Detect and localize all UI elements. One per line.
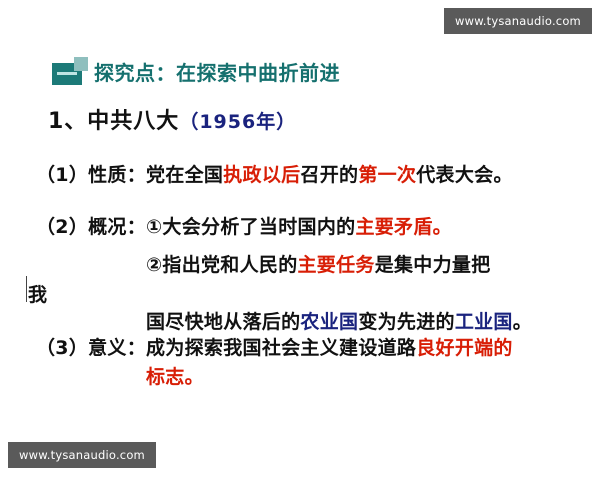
body-line-6: 标志。 <box>146 362 204 389</box>
line5-emphasis-1: 良好开端的 <box>416 337 513 359</box>
watermark-bottom-text: www.tysanaudio.com <box>19 448 145 462</box>
line3-emphasis-1: 主要任务 <box>298 254 375 276</box>
headline-year: （1956年） <box>179 111 296 133</box>
line2-seg1: 大会分析了当时国内的 <box>162 216 355 238</box>
teal-square-bullet-icon <box>52 57 92 85</box>
line2-emphasis-1: 主要矛盾。 <box>355 216 452 238</box>
line6-emphasis-1: 标志。 <box>146 366 204 388</box>
body-line-2: （2）概况：①大会分析了当时国内的主要矛盾。 <box>36 212 452 239</box>
line1-seg1: 党在全国 <box>146 164 223 186</box>
line5-label: （3）意义： <box>36 337 146 359</box>
line3-seg3: 是集中力量把 <box>375 254 491 276</box>
line4-emphasis-1: 农业国 <box>300 311 358 333</box>
line3-seg1: 指出党和人民的 <box>162 254 297 276</box>
line3-marker: ② <box>146 254 162 276</box>
body-line-1: （1）性质：党在全国执政以后召开的第一次代表大会。 <box>36 160 513 187</box>
body-line-5: （3）意义：成为探索我国社会主义建设道路良好开端的 <box>36 333 513 360</box>
line1-emphasis-2: 第一次 <box>358 164 416 186</box>
line1-label: （1）性质： <box>36 164 146 186</box>
watermark-top-text: www.tysanaudio.com <box>455 14 581 28</box>
line1-seg3: 召开的 <box>300 164 358 186</box>
line4-seg5: 。 <box>513 311 532 333</box>
section-title-text: 探究点：在探索中曲折前进 <box>94 57 340 86</box>
line1-emphasis-1: 执政以后 <box>223 164 300 186</box>
line4-emphasis-2: 工业国 <box>455 311 513 333</box>
body-line-4: 国尽快地从落后的农业国变为先进的工业国。 <box>146 307 532 334</box>
line1-seg5: 代表大会。 <box>416 164 513 186</box>
watermark-top: www.tysanaudio.com <box>444 8 592 34</box>
line2-label: （2）概况： <box>36 216 146 238</box>
stray-character: 我 <box>28 280 47 307</box>
headline-text: 1、中共八大 <box>48 109 179 134</box>
slide-canvas: www.tysanaudio.com 探究点：在探索中曲折前进 1、中共八大（1… <box>0 0 600 480</box>
line4-seg3: 变为先进的 <box>358 311 455 333</box>
body-line-3: ②指出党和人民的主要任务是集中力量把 <box>146 250 491 277</box>
icon-square-accent <box>74 57 88 71</box>
text-caret <box>26 276 27 302</box>
page-title: 1、中共八大（1956年） <box>48 103 296 135</box>
watermark-bottom: www.tysanaudio.com <box>8 442 156 468</box>
line5-seg1: 成为探索我国社会主义建设道路 <box>146 337 416 359</box>
line4-seg1: 国尽快地从落后的 <box>146 311 300 333</box>
line2-marker: ① <box>146 216 162 238</box>
section-title: 探究点：在探索中曲折前进 <box>52 56 340 86</box>
icon-dash <box>57 72 77 75</box>
